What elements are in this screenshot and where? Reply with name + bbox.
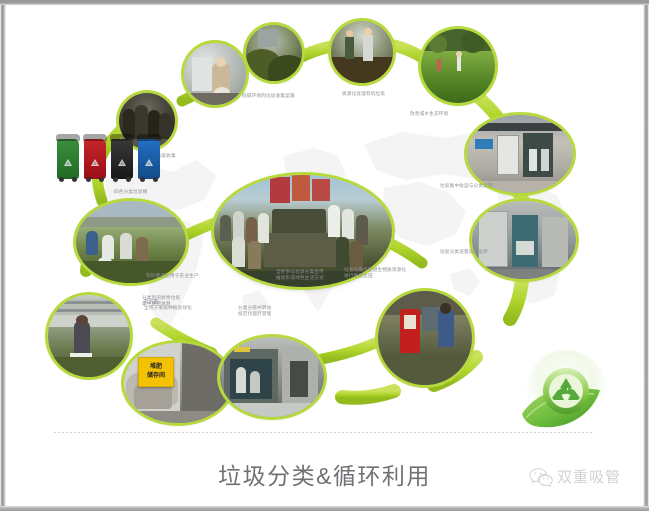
caption-composting-field: 资源化处理有机垃圾 [342,91,418,97]
node-treatment-plant[interactable] [220,337,324,417]
black-bin[interactable] [111,139,133,179]
frame-right [643,0,649,511]
bin-lid [137,134,161,141]
bin-lid [56,134,80,141]
caption-processing-equipment: 垃圾分类减量设备运转 [440,249,532,255]
bin-wheel [72,177,77,182]
bin-wheel [113,177,118,182]
caption-sorting-bins: 四色分类垃圾桶 [114,189,188,195]
compost-storage-sign: 堆肥 储存间 [138,357,174,387]
caption-organic-farm: 有机肥还田用于农业生产 [146,273,230,279]
recycle-symbol-icon [118,159,126,166]
node-harvest-collection[interactable] [48,295,130,377]
recycle-symbol-icon [145,159,153,166]
bin-lid [110,134,134,141]
poster-canvas: 垃圾分类收集 生活垃圾收集 低碳环保的垃圾收集运输 资源 [0,0,649,511]
brand-name: 双重吸管 [557,466,621,487]
bin-wheel [86,177,91,182]
node-organic-farm[interactable] [76,201,186,283]
caption-compost-storage: 分类后的厨余垃圾 集中堆肥发酵 [142,295,226,307]
footer-divider [54,432,594,433]
frame-bottom [0,506,649,511]
bin-wheel [126,177,131,182]
bin-wheel [140,177,145,182]
caption-sorting-station: 垃圾集中收运与分类处理 [440,183,532,189]
sorting-bins-group [57,133,162,185]
caption-shredder-machine: 社会化服务促进生物质资源化 进行堆肥还田 [344,267,438,279]
node-sorting-station[interactable] [467,115,573,193]
node-composting-field[interactable] [331,21,393,83]
sign-line-2: 储存间 [147,372,165,381]
recycle-symbol-icon [64,159,72,166]
caption-treatment-plant: 分类分拣中转站 规范化运行管理 [238,305,316,317]
bin-wheel [153,177,158,182]
node-green-waste-pile[interactable] [246,25,302,81]
bin-wheel [99,177,104,182]
node-green-lawn[interactable] [421,29,495,103]
sign-line-1: 堆肥 [150,363,162,372]
bin-wheel [59,177,64,182]
node-indoor-sorting[interactable] [184,43,246,105]
node-shredder-machine[interactable] [378,291,472,385]
wechat-icon [529,467,553,487]
caption-green-waste: 低碳环保的垃圾收集运输 [242,93,322,99]
caption-community-activity: 全民参与垃圾分类宣传 推动形成绿色生活方式 [240,269,360,281]
recycle-symbol-icon [91,159,99,166]
bin-lid [83,134,107,141]
poster-content: 垃圾分类收集 生活垃圾收集 低碳环保的垃圾收集运输 资源 [6,5,643,506]
brand-watermark: 双重吸管 [529,466,621,487]
red-bin[interactable] [84,139,106,179]
blue-bin[interactable] [138,139,160,179]
node-processing-equipment[interactable] [472,201,576,279]
green-bin[interactable] [57,139,79,179]
